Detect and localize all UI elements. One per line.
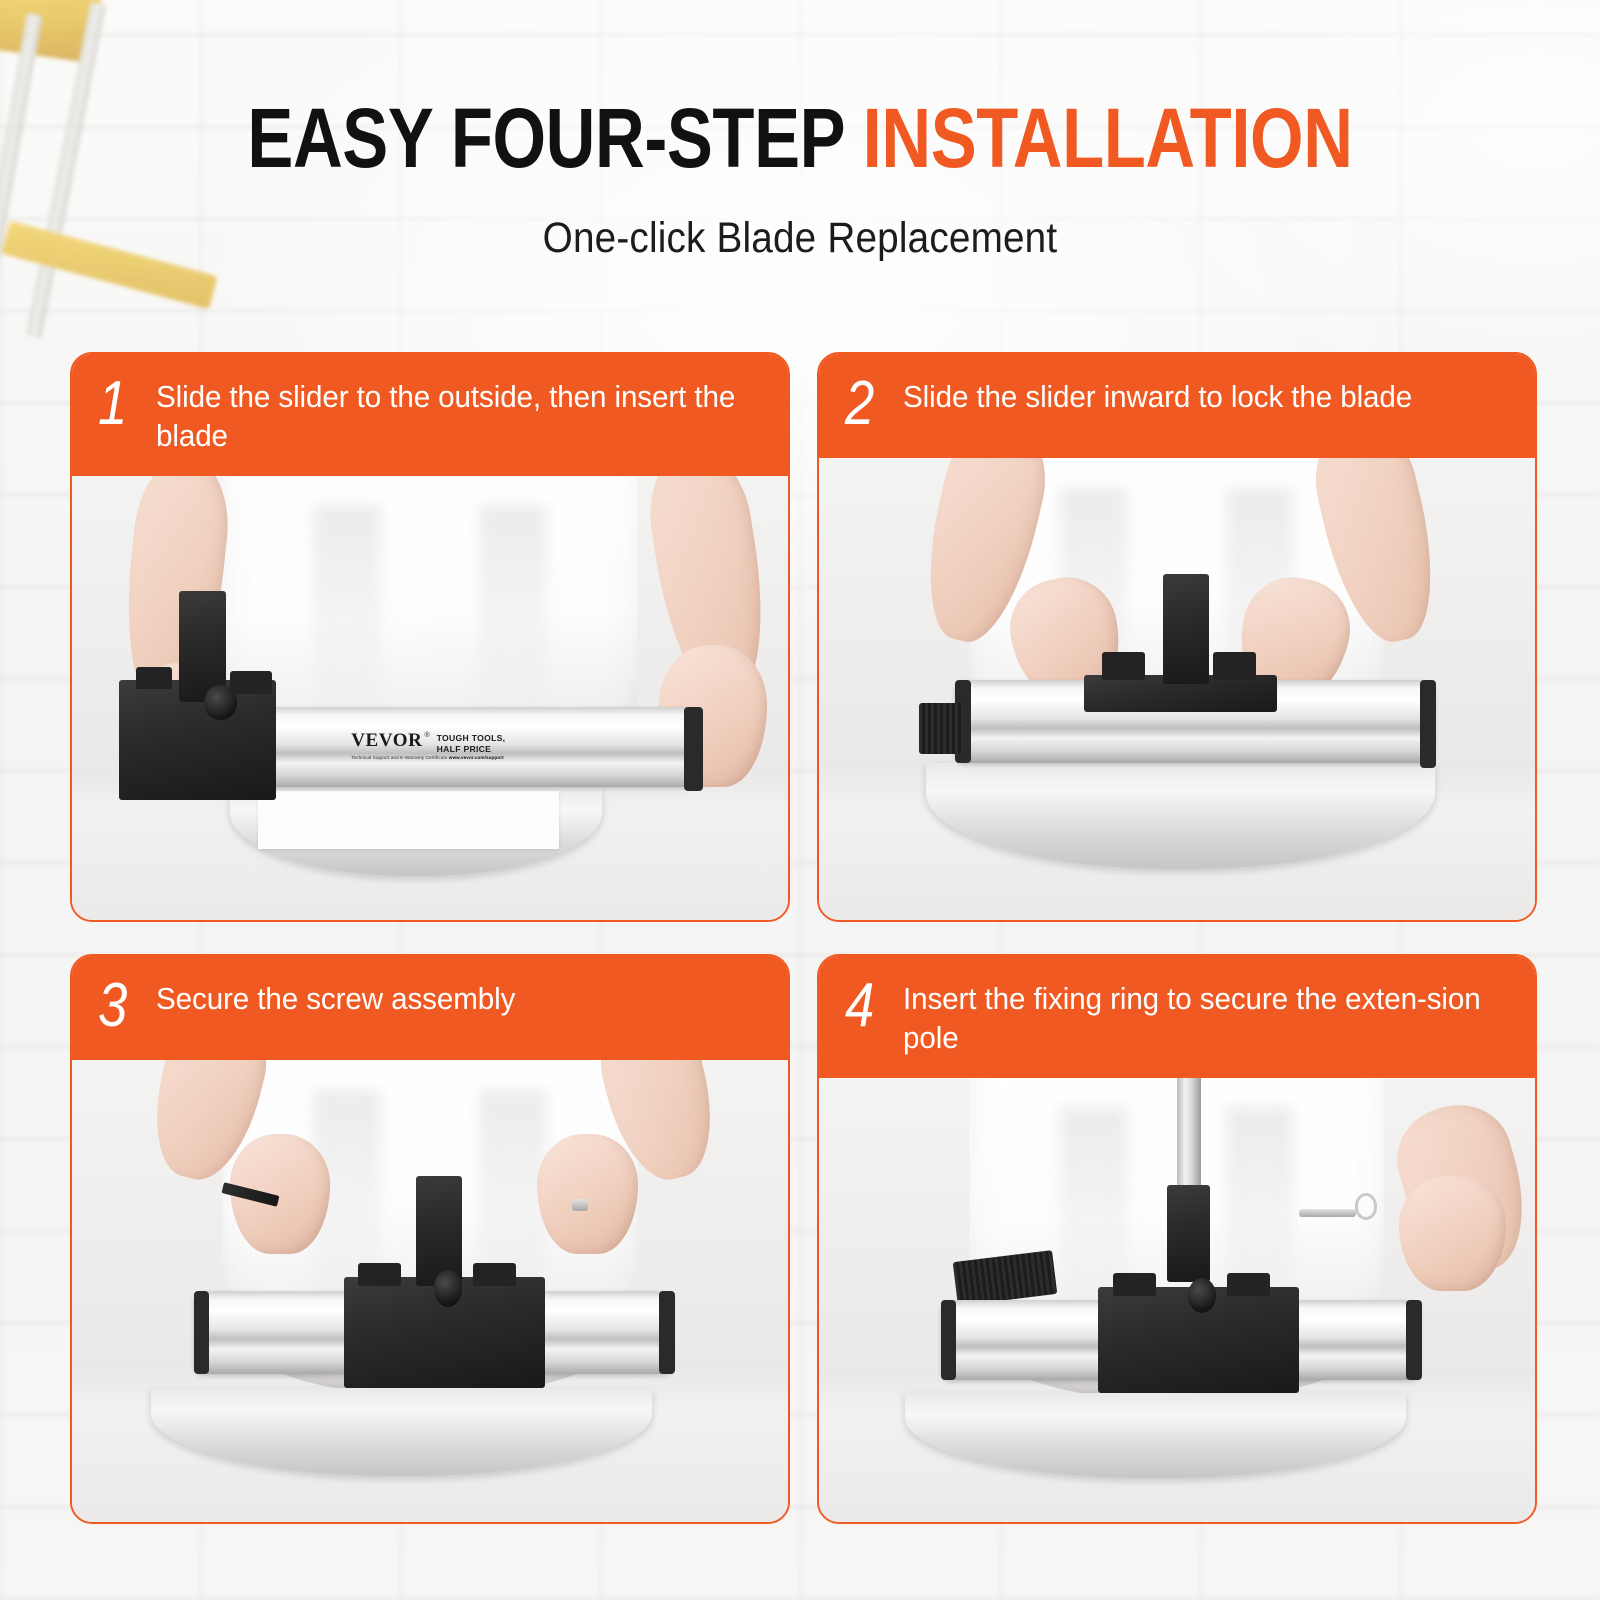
slider-tab-right [1213,652,1256,680]
header: EASY FOUR-STEP INSTALLATION One-click Bl… [0,0,1600,263]
wrist-strap [919,703,962,754]
right-hand-holding-nut [537,1134,637,1254]
tool-end-cap-right [1420,680,1436,768]
steps-grid: 1 Slide the slider to the outside, then … [70,352,1537,1524]
step-text-2: Slide the slider inward to lock the blad… [903,372,1412,417]
step-text-3: Secure the screw assembly [156,974,515,1019]
step-card-3[interactable]: 3 Secure the screw assembly [70,954,790,1524]
slider-tab-left [1102,652,1145,680]
step-photo-1: VEVOR ® TOUGH TOOLS, HALF PRICE Technica… [72,476,788,920]
page-title-black: EASY FOUR-STEP [247,91,843,185]
step-text-4: Insert the fixing ring to secure the ext… [903,974,1494,1058]
right-hand-holding-ring [1399,1176,1506,1291]
step-number-1: 1 [98,374,127,435]
step-card-4[interactable]: 4 Insert the fixing ring to secure the e… [817,954,1537,1524]
step-banner-4: 4 Insert the fixing ring to secure the e… [819,956,1535,1078]
tool-end-cap-left [941,1300,957,1380]
tool-end-cap-right [1406,1300,1422,1380]
page-title-accent: INSTALLATION [863,91,1353,185]
hinge-disc [434,1270,463,1307]
step-banner-2: 2 Slide the slider inward to lock the bl… [819,354,1535,458]
slider-tab-left [358,1263,401,1286]
blade-paper-strip [258,791,559,849]
tool-end-cap-right [659,1291,675,1374]
step-number-2: 2 [845,374,874,435]
slider-tab-right [473,1263,516,1286]
slider-upright-handle [1163,574,1210,685]
step-banner-3: 3 Secure the screw assembly [72,956,788,1060]
bracket-upright-handle [416,1176,463,1287]
step-number-3: 3 [98,976,127,1037]
step-photo-2 [819,458,1535,920]
nut [572,1199,588,1211]
slider-tab-right [230,671,273,693]
page-title: EASY FOUR-STEP INSTALLATION [144,96,1456,180]
pole-black-collar [1167,1185,1210,1283]
slider-tab-left [136,667,172,689]
step-photo-4 [819,1078,1535,1522]
tool-end-cap-right [684,707,703,791]
page-subtitle: One-click Blade Replacement [80,214,1520,263]
tool-end-cap-left [194,1291,210,1374]
step-text-1: Slide the slider to the outside, then in… [156,372,747,456]
step-banner-1: 1 Slide the slider to the outside, then … [72,354,788,476]
slider-tab-left [1113,1273,1156,1295]
step-card-1[interactable]: 1 Slide the slider to the outside, then … [70,352,790,922]
tool-aluminium-tube [244,707,695,787]
fixing-ring-pin [1299,1209,1356,1217]
step-photo-3 [72,1060,788,1522]
slider-tab-right [1227,1273,1270,1295]
step-card-2[interactable]: 2 Slide the slider inward to lock the bl… [817,352,1537,922]
step-number-4: 4 [845,976,874,1037]
hinge-disc [204,685,236,721]
